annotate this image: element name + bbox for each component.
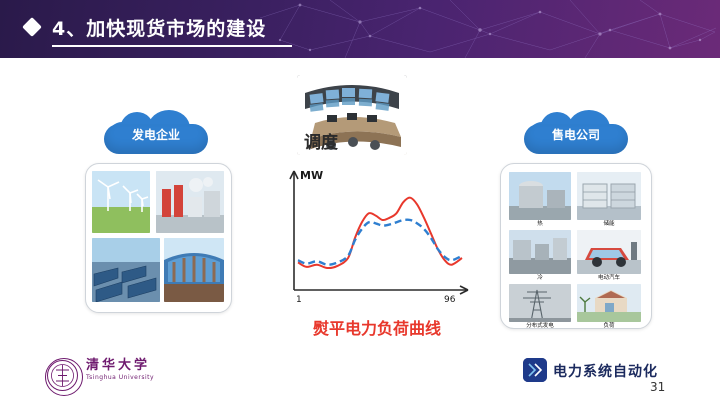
wechat-account-icon xyxy=(523,358,547,382)
cloud-generation-enterprises: 发电企业 xyxy=(104,110,208,156)
label-distributed: 分布式发电 xyxy=(509,323,571,329)
tsinghua-emblem xyxy=(46,359,79,392)
cloud-retail-companies: 售电公司 xyxy=(524,110,628,156)
ev-car-illustration xyxy=(577,230,641,274)
industrial-load-photo xyxy=(509,230,571,274)
slide: 4、加快现货市场的建设 发电企业 售电公司 xyxy=(0,0,720,405)
wechat-logo xyxy=(523,358,547,382)
label-storage: 储能 xyxy=(577,221,641,228)
dispatch-label: 调度 xyxy=(304,128,338,153)
x-tick-right: 96 xyxy=(444,295,456,305)
solar-farm-photo xyxy=(92,238,160,302)
rooftop-solar-house-illustration xyxy=(577,284,641,322)
battery-storage-photo xyxy=(577,172,641,220)
chart-caption: 熨平电力负荷曲线 xyxy=(287,315,467,339)
wind-turbines-illustration xyxy=(92,171,150,233)
label-load: 负荷 xyxy=(577,323,641,329)
wind-farm-photo xyxy=(92,171,150,233)
load-curve-svg: MW 1 96 xyxy=(272,165,472,305)
page-number: 31 xyxy=(650,380,665,394)
thermal-plant-photo xyxy=(156,171,224,233)
transmission-tower-illustration xyxy=(509,284,571,322)
heat-storage-photo xyxy=(509,172,571,220)
distributed-generation-photo xyxy=(577,284,641,322)
slide-header: 4、加快现货市场的建设 xyxy=(0,0,720,58)
hydro-dam-illustration xyxy=(164,238,224,302)
tsinghua-name-en: Tsinghua University xyxy=(86,372,154,384)
tsinghua-logo-icon xyxy=(45,358,83,396)
tsinghua-wordmark: 清华大学 Tsinghua University xyxy=(86,360,154,384)
x-tick-left: 1 xyxy=(296,295,302,305)
thermal-plant-illustration xyxy=(156,171,224,233)
label-heat: 热 xyxy=(509,221,571,228)
cloud-retail-label: 售电公司 xyxy=(524,126,628,143)
series-smoothed-load xyxy=(298,220,462,265)
tsinghua-name-cn: 清华大学 xyxy=(86,360,154,372)
label-cold: 冷 xyxy=(509,275,571,282)
transmission-tower-photo xyxy=(509,284,571,322)
retail-photo-panel: 热 储能 电动汽车 冷 分布式发电 负荷 xyxy=(500,163,652,329)
battery-container-illustration xyxy=(577,172,641,220)
electric-vehicle-photo xyxy=(577,230,641,274)
generation-photo-panel xyxy=(85,163,232,313)
title-underline xyxy=(52,45,292,47)
load-curve-chart: MW 1 96 xyxy=(272,165,472,305)
label-ev: 电动汽车 xyxy=(577,275,641,282)
series-original-load xyxy=(298,198,462,268)
cloud-generation-label: 发电企业 xyxy=(104,126,208,143)
industrial-load-illustration xyxy=(509,230,571,274)
wechat-account-name: 电力系统自动化 xyxy=(553,361,658,381)
hydro-plant-photo xyxy=(164,238,224,302)
solar-panels-illustration xyxy=(92,238,160,302)
page-title: 4、加快现货市场的建设 xyxy=(52,14,266,41)
y-axis-label: MW xyxy=(300,169,323,182)
heat-tank-illustration xyxy=(509,172,571,220)
